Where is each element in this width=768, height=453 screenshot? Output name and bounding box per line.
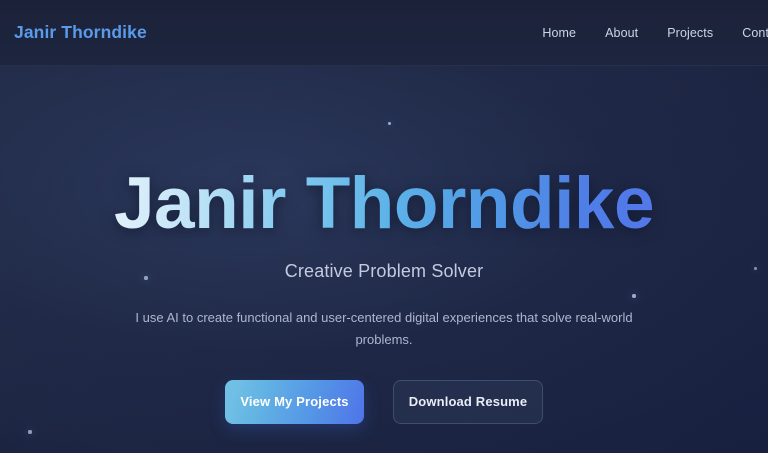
nav-link-projects[interactable]: Projects [667,26,713,40]
primary-navigation: Home About Projects Contact [542,26,768,40]
hero-section: Janir Thorndike Creative Problem Solver … [0,66,768,453]
page-root: Janir Thorndike Home About Projects Cont… [0,0,768,453]
hero-actions: View My Projects Download Resume [225,380,543,424]
hero-description: I use AI to create functional and user-c… [132,307,637,352]
download-resume-button[interactable]: Download Resume [393,380,543,424]
hero-subtitle: Creative Problem Solver [285,261,484,282]
nav-link-home[interactable]: Home [542,26,576,40]
view-my-projects-button[interactable]: View My Projects [225,380,364,424]
nav-link-contact[interactable]: Contact [742,26,768,40]
site-header: Janir Thorndike Home About Projects Cont… [0,0,768,66]
nav-link-about[interactable]: About [605,26,638,40]
site-logo[interactable]: Janir Thorndike [8,22,147,43]
page-title: Janir Thorndike [114,167,654,240]
